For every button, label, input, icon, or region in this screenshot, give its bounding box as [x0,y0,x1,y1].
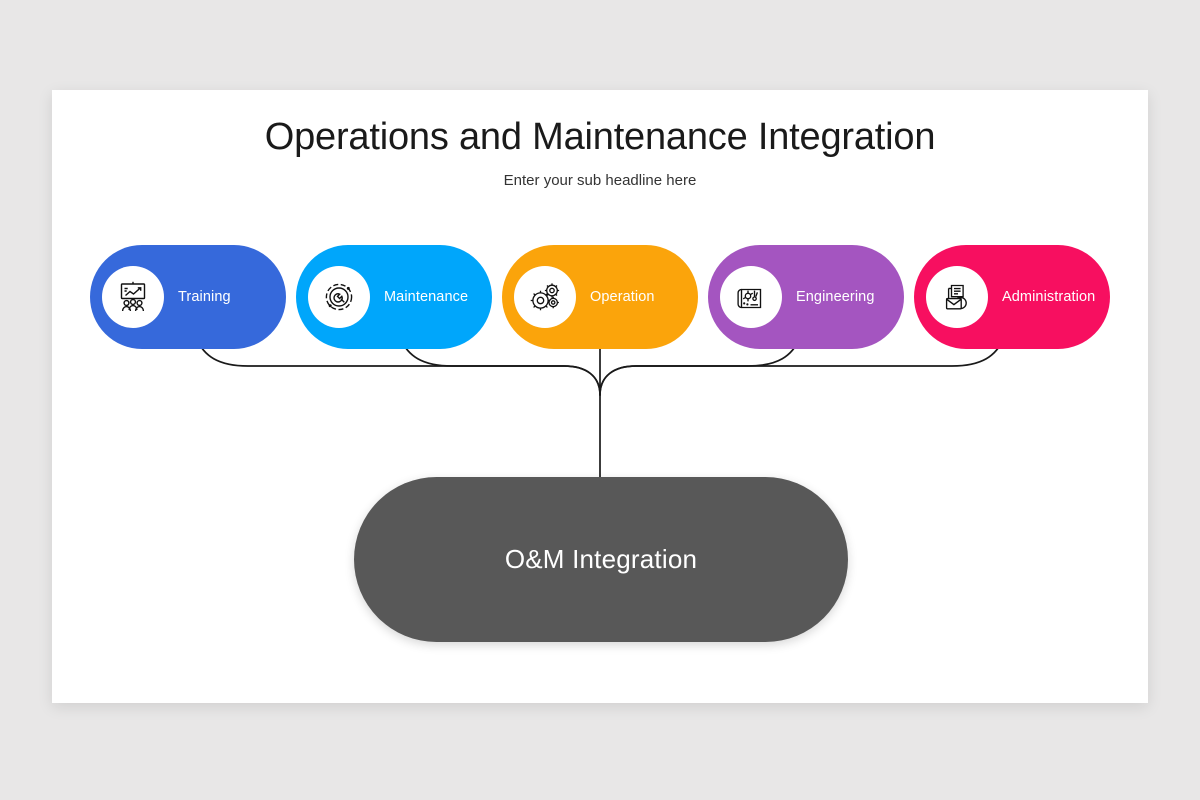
hub-label: O&M Integration [505,544,697,575]
page-subtitle: Enter your sub headline here [52,172,1148,189]
node-label: Operation [590,289,655,305]
node-administration[interactable]: Administration [914,245,1110,349]
node-maintenance[interactable]: Maintenance [296,245,492,349]
node-label: Maintenance [384,289,468,305]
node-engineering[interactable]: Engineering [708,245,904,349]
gear-wrench-circle-icon [308,266,370,328]
slide-card: Operations and Maintenance Integration E… [52,90,1148,703]
hub-node[interactable]: O&M Integration [354,477,848,642]
page-title: Operations and Maintenance Integration [52,116,1148,159]
presentation-chart-people-icon [102,266,164,328]
node-label: Engineering [796,289,875,305]
node-row: Training Maintenance [90,245,1110,355]
node-label: Training [178,289,231,305]
node-training[interactable]: Training [90,245,286,349]
node-operation[interactable]: Operation [502,245,698,349]
node-label: Administration [1002,289,1095,305]
three-gears-icon [514,266,576,328]
documents-envelope-icon [926,266,988,328]
blueprint-tools-icon [720,266,782,328]
